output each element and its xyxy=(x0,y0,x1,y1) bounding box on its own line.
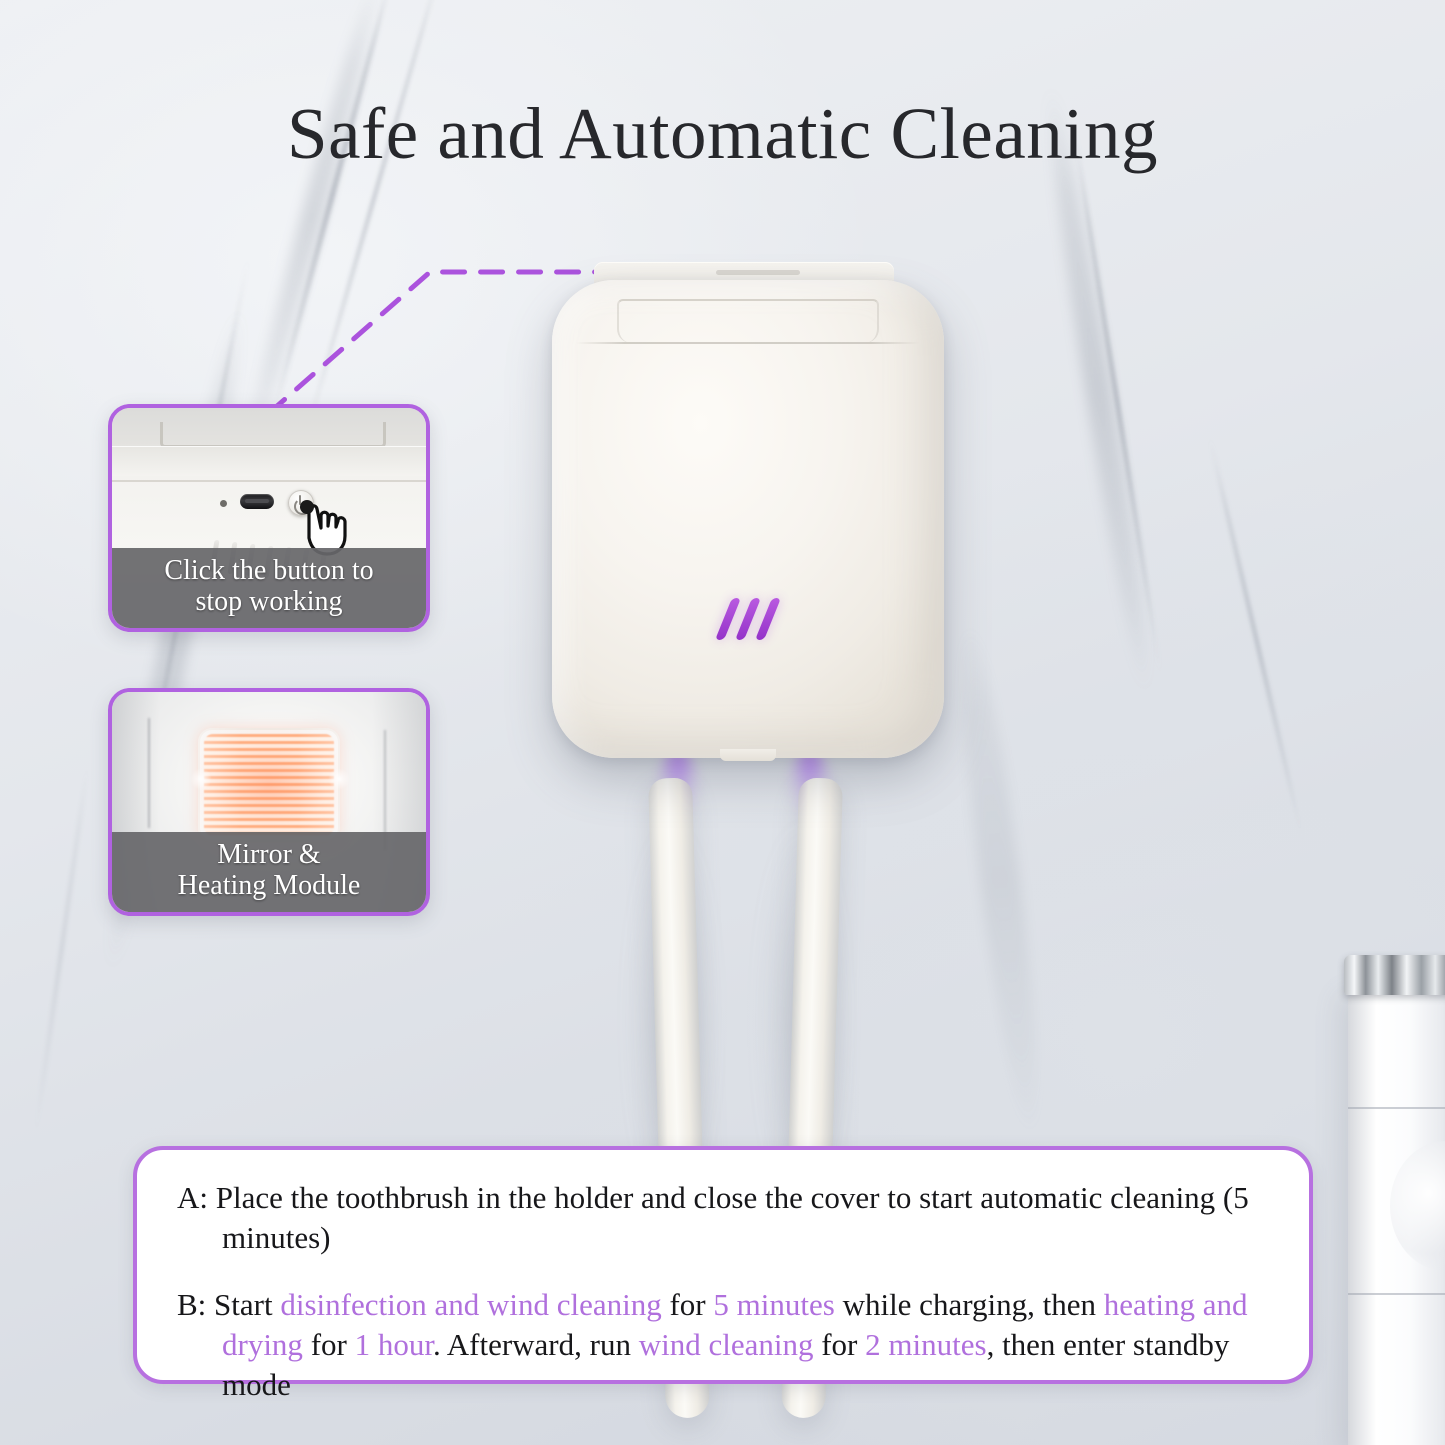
bottle-ring xyxy=(1348,1107,1445,1109)
page-title: Safe and Automatic Cleaning xyxy=(0,96,1445,173)
device-bottom-port xyxy=(720,749,776,761)
marble-vein xyxy=(1071,123,1163,677)
indicator-led xyxy=(220,500,227,507)
instr-b-seg8: 1 hour xyxy=(355,1327,433,1362)
instr-b-seg2: disinfection and wind cleaning xyxy=(280,1287,661,1322)
callout-card-heating-module[interactable]: Mirror & Heating Module xyxy=(108,688,430,916)
heating-glow xyxy=(198,728,340,842)
instr-b-seg11: for xyxy=(813,1327,865,1362)
device-rail xyxy=(112,446,426,476)
toothbrush-sanitizer-device xyxy=(552,262,944,762)
device-seam-line xyxy=(112,480,426,482)
instr-b-seg12: 2 minutes xyxy=(865,1327,986,1362)
marble-vein xyxy=(269,0,395,423)
callout-caption-stop-button: Click the button to stop working xyxy=(112,548,426,628)
instr-b-seg9: . Afterward, run xyxy=(433,1327,639,1362)
marble-vein xyxy=(34,762,90,1139)
specular-highlight xyxy=(190,768,212,790)
instr-b-seg7: for xyxy=(303,1327,355,1362)
usb-c-port-icon xyxy=(240,494,274,509)
instruction-a: A: Place the toothbrush in the holder an… xyxy=(177,1178,1273,1259)
instr-b-seg1: Start xyxy=(214,1287,280,1322)
device-body xyxy=(552,280,944,758)
callout-caption-heating-module: Mirror & Heating Module xyxy=(112,832,426,912)
instruction-b-label: B: xyxy=(177,1287,206,1322)
instruction-b: B: Start disinfection and wind cleaning … xyxy=(177,1285,1273,1406)
bottle-ring xyxy=(1348,1293,1445,1295)
specular-highlight xyxy=(328,768,350,790)
instr-b-seg3: for xyxy=(662,1287,714,1322)
cavity-slit-left xyxy=(148,718,150,828)
marble-vein xyxy=(1037,82,1160,698)
instr-b-seg4: 5 minutes xyxy=(713,1287,834,1322)
pump-bottle xyxy=(1338,955,1445,1445)
instructions-panel: A: Place the toothbrush in the holder an… xyxy=(133,1146,1313,1384)
instruction-a-text: Place the toothbrush in the holder and c… xyxy=(216,1180,1249,1255)
marble-vein xyxy=(948,620,1051,1141)
heating-panel xyxy=(198,728,340,842)
three-diagonal-slashes-icon xyxy=(724,598,773,640)
device-lid-edge xyxy=(617,299,879,343)
marble-vein xyxy=(1208,435,1305,845)
infographic-canvas: Safe and Automatic Cleaning xyxy=(0,0,1445,1445)
device-lid-slot xyxy=(716,270,800,275)
lid-outline xyxy=(160,422,386,448)
callout-card-stop-button[interactable]: Click the button to stop working xyxy=(108,404,430,632)
instr-b-seg10: wind cleaning xyxy=(639,1327,814,1362)
instruction-a-label: A: xyxy=(177,1180,208,1215)
bottle-chrome-cap xyxy=(1344,955,1445,995)
instr-b-seg5: while charging, then xyxy=(835,1287,1104,1322)
